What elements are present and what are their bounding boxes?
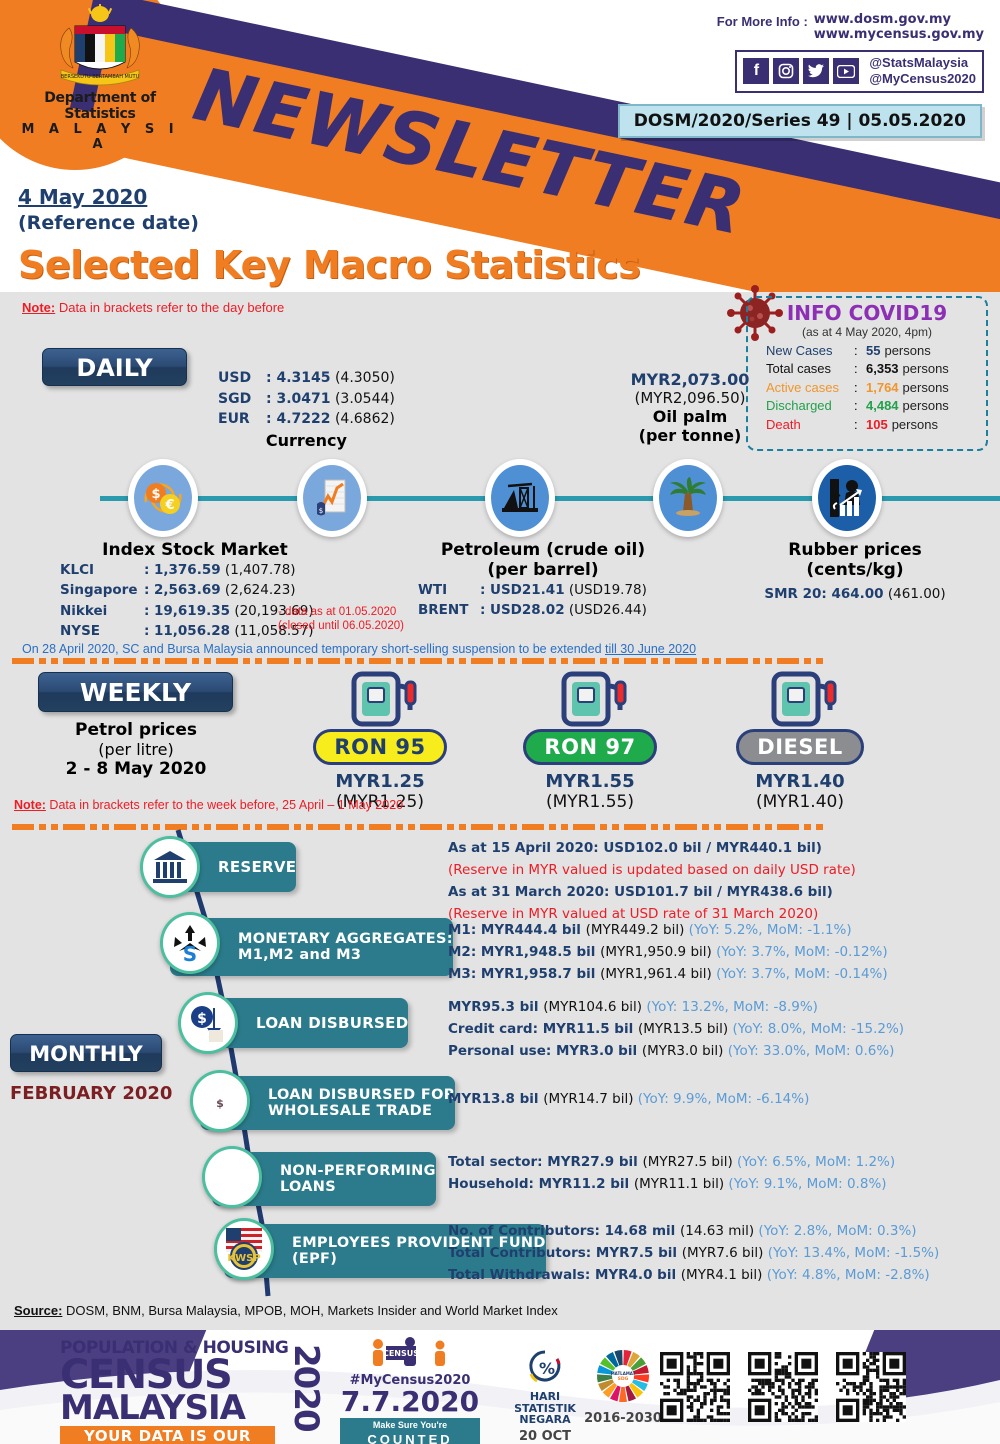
bursa-note-text: On 28 April 2020, SC and Bursa Malaysia … [22,642,605,656]
rubber-prev: (461.00) [888,586,946,602]
monthly-value-current: MYR95.3 bil [448,999,543,1015]
separator-dash [165,824,187,830]
monthly-value-previous: (14.63 mil) [680,1223,758,1239]
monthly-value-previous: (MYR3.0 bil) [642,1043,728,1059]
monthly-row-label: NON-PERFORMING LOANS [280,1163,436,1195]
covid-row-label: New Cases [766,342,854,360]
separator-dash [318,658,340,664]
currency-row: EUR: 4.7222 (4.6862) [218,409,395,430]
monthly-value-change: (YoY: 9.1%, MoM: 0.8%) [728,1176,886,1192]
separator-dash [51,658,58,664]
rubber-title-1: Rubber prices [755,540,955,560]
index-value: 2,563.69 [154,582,221,598]
separator-dash [216,658,238,664]
petroleum-block: Petroleum (crude oil) (per barrel) WTI:U… [418,540,668,621]
weekly-section-button[interactable]: WEEKLY [38,672,233,712]
monthly-row-label: RESERVE [218,859,296,876]
bursa-short-selling-note: On 28 April 2020, SC and Bursa Malaysia … [22,642,696,656]
dosm-logo: BERSEKUTU BERTAMBAH MUTU Department of S… [20,4,180,114]
monthly-value-change: (YoY: 13.2%, MoM: -8.9%) [646,999,818,1015]
separator-dash [447,658,454,664]
separator-dash [102,658,109,664]
qr-code-dosm[interactable] [660,1352,730,1422]
currency-row: SGD: 3.0471 (3.0544) [218,389,395,410]
separator-dash [267,824,289,830]
epf-logo-icon: KWSP [214,1218,274,1280]
separator-dash [255,824,262,830]
handle-mycensus: @MyCensus2020 [869,71,976,87]
census-family-icon: CENSUS [362,1336,458,1368]
fuel-price-prev: (MYR1.40) [710,792,890,812]
fuel-pump-icon [332,668,428,728]
covid-row-value: 6,353 [866,360,899,378]
separator-dash [114,824,136,830]
monthly-value-current: Total sector: MYR27.9 bil [448,1154,643,1170]
covid-row-unit: persons [884,342,930,360]
separator-dash [369,824,391,830]
monthly-value-previous: (MYR104.6 bil) [543,999,646,1015]
monthly-row-label: LOAN DISBURSED FOR WHOLESALE TRADE [268,1087,455,1119]
palm-tree-icon [666,477,710,519]
separator-dash [396,824,403,830]
covid-row-unit: persons [903,360,949,378]
separator-dash [612,824,619,830]
covid-row: Total cases:6,353persons [748,360,986,378]
separator-dash [153,824,160,830]
counted-badge: Make Sure You're COUNTED [340,1418,480,1444]
nikkei-data-note: - data as at 01.05.2020 (closed until 06… [278,605,404,634]
currency-code: USD [218,368,266,389]
monthly-value-line: M2: MYR1,948.5 bil (MYR1,950.9 bil) (YoY… [448,942,888,964]
monthly-value-previous: (MYR13.5 bil) [638,1021,733,1037]
fuel-price: MYR1.55 [500,771,680,792]
monthly-row-label: LOAN DISBURSED [256,1015,408,1032]
weekly-note: Note: Data in brackets refer to the week… [14,798,403,812]
separator-dash [663,658,670,664]
petroleum-colon: : [480,600,490,620]
percent-circle-icon: % [519,1348,571,1386]
monthly-value-change: (YoY: 9.9%, MoM: -6.14%) [638,1091,810,1107]
separator-dash [459,658,466,664]
fuel-grade-pill: DIESEL [736,729,863,765]
currency-code: SGD [218,389,266,410]
currency-rows: USD: 4.3145 (4.3050)SGD: 3.0471 (3.0544)… [218,368,395,430]
separator-dash [561,824,568,830]
oil-palm-block: MYR2,073.00 (MYR2,096.50) Oil palm (per … [600,370,780,446]
separator-dash [675,824,697,830]
oil-palm-label-2: (per tonne) [600,427,780,445]
monthly-value-line: No. of Contributors: 14.68 mil (14.63 mi… [448,1221,939,1243]
source-text: DOSM, BNM, Bursa Malaysia, MPOB, MOH, Ma… [62,1303,557,1318]
petroleum-colon: : [480,580,490,600]
index-prev: (2,624.23) [225,582,296,598]
index-value: 1,376.59 [154,562,221,578]
monthly-value-line: Total Withdrawals: MYR4.0 bil (MYR4.1 bi… [448,1265,939,1287]
separator-dash [204,824,211,830]
census-date: 7.7.2020 [340,1388,480,1416]
daily-section-button[interactable]: DAILY [42,348,187,386]
separator-dash [165,658,187,664]
petrol-pump-ron95: RON 95MYR1.25(MYR1.25) [290,668,470,812]
separator-dash [357,658,364,664]
petroleum-name: BRENT [418,600,480,620]
money-supply-icon: S [160,912,220,974]
separator-dash [12,824,34,830]
twitter-icon[interactable] [803,58,829,84]
separator-dash [51,824,58,830]
covid-row-unit: persons [903,397,949,415]
separator-dash [753,658,760,664]
sdg-segment [619,1387,627,1402]
petrol-pump-ron97: RON 97MYR1.55(MYR1.55) [500,668,680,812]
covid-row-value: 4,484 [866,397,899,415]
currency-value: : 4.7222 [266,411,331,427]
fuel-pump-icon [752,668,848,728]
separator-dash [243,824,250,830]
timeline-node-rubber [812,459,882,537]
stat-day-line1: HARI [500,1391,590,1403]
petroleum-title-1: Petroleum (crude oil) [418,540,668,560]
census-tagline: YOUR DATA IS OUR FUTURE [60,1426,275,1444]
rubber-tapping-icon [824,477,870,519]
index-value: 19,619.35 [154,603,230,619]
monthly-row-values: MYR95.3 bil (MYR104.6 bil) (YoY: 13.2%, … [448,997,904,1063]
newsletter-page: NEWSLETTER [0,0,1000,1444]
monthly-value-previous: (MYR27.5 bil) [643,1154,738,1170]
covid-row-colon: : [854,360,866,378]
currency-prev: (4.6862) [335,411,395,427]
separator-dash [216,824,238,830]
instagram-icon[interactable] [773,58,799,84]
separator-dash [804,658,811,664]
monthly-section-button[interactable]: MONTHLY [10,1034,162,1072]
source-line: Source: DOSM, BNM, Bursa Malaysia, MPOB,… [14,1303,558,1318]
index-colon: : [144,601,154,621]
covid-row-colon: : [854,397,866,415]
separator-dash [12,658,34,664]
monthly-value-previous: (MYR1,961.4 bil) [600,966,716,982]
nikkei-data-note-line1: - data as at 01.05.2020 [278,605,404,619]
separator-dash [39,824,46,830]
separator-dash [102,824,109,830]
fuel-price: MYR1.25 [290,771,470,792]
separator-dash [498,824,505,830]
monthly-value-current: M2: MYR1,948.5 bil [448,944,600,960]
monthly-value-line: M1: MYR444.4 bil (MYR449.2 bil) (YoY: 5.… [448,920,888,942]
reference-date-caption: (Reference date) [18,212,199,234]
separator-dash [345,824,352,830]
covid-title: INFO COVID19 [748,301,986,325]
separator-dash [294,824,301,830]
monthly-value-change: (YoY: 2.8%, MoM: 0.3%) [758,1223,916,1239]
separator-dash [420,824,442,830]
dosm-url[interactable]: www.dosm.gov.my [814,12,984,27]
currency-row: USD: 4.3145 (4.3050) [218,368,395,389]
separator-dash [624,658,646,664]
oil-palm-label-1: Oil palm [600,408,780,426]
petroleum-title-2: (per barrel) [418,560,668,580]
index-row: KLCI:1,376.59 (1,407.78) [60,560,330,580]
svg-text:%: % [539,1359,555,1378]
petrol-prices-label: Petrol prices (per litre) 2 - 8 May 2020 [36,720,236,779]
series-id-badge: DOSM/2020/Series 49 | 05.05.2020 [618,104,982,138]
petroleum-row: BRENT:USD28.02 (USD26.44) [418,600,668,620]
rubber-row: SMR 20: 464.00 (461.00) [755,586,955,602]
separator-dash [777,824,799,830]
monthly-reference-month: FEBRUARY 2020 [10,1083,172,1104]
separator-dash [141,658,148,664]
separator-dash [192,824,199,830]
separator-dash [408,658,415,664]
source-label: Source: [14,1303,62,1318]
monthly-value-change: (YoY: 33.0%, MoM: 0.6%) [728,1043,895,1059]
covid-row-value: 1,764 [866,379,899,397]
covid-rows: New Cases:55personsTotal cases:6,353pers… [748,342,986,434]
svg-text:€: € [164,498,174,513]
separator-dash [357,824,364,830]
separator-dash [90,824,97,830]
dosm-org-line1: Department of Statistics [20,90,180,122]
separator-dash [612,658,619,664]
separator-dash [204,658,211,664]
separator-dash [63,658,85,664]
monthly-value-line: (Reserve in MYR valued is updated based … [448,860,856,882]
separator-dash [549,824,556,830]
separator-dash [714,658,721,664]
monthly-value-current: Household: MYR11.2 bil [448,1176,634,1192]
monthly-value-line: Household: MYR11.2 bil (MYR11.1 bil) (Yo… [448,1174,895,1196]
daily-note-label: Note: [22,300,55,315]
separator-dash [726,658,748,664]
currency-label: Currency [218,431,395,450]
monthly-value-current: Personal use: MYR3.0 bil [448,1043,642,1059]
counted-big: COUNTED [340,1432,480,1444]
monthly-value-previous: (MYR1,950.9 bil) [600,944,716,960]
separator-dash [294,658,301,664]
separator-dash [675,658,697,664]
mycensus-url[interactable]: www.mycensus.gov.my [814,27,984,42]
stat-day-date: 20 OCT [500,1429,590,1444]
bursa-note-link[interactable]: till 30 June 2020 [605,642,696,656]
petroleum-rows: WTI:USD21.41 (USD19.78)BRENT:USD28.02 (U… [418,580,668,621]
separator-dash [306,824,313,830]
section-separator-1 [12,658,988,664]
monthly-value-previous: (MYR7.6 bil) [682,1245,768,1261]
index-name: Singapore [60,580,144,600]
separator-dash [522,658,544,664]
page-header: NEWSLETTER [0,0,1000,292]
qr-code-mycensus[interactable] [836,1352,906,1422]
separator-dash [714,824,721,830]
covid-row: New Cases:55persons [748,342,986,360]
monthly-value-change: (YoY: 3.7%, MoM: -0.12%) [716,944,888,960]
separator-dash [600,824,607,830]
svg-text:BERSEKUTU BERTAMBAH MUTU: BERSEKUTU BERTAMBAH MUTU [61,74,140,80]
fuel-price: MYR1.40 [710,771,890,792]
index-prev: (1,407.78) [225,562,296,578]
monthly-value-change: (YoY: 5.2%, MoM: -1.1%) [689,922,852,938]
monthly-value-line: Credit card: MYR11.5 bil (MYR13.5 bil) (… [448,1019,904,1041]
qr-code-facebook[interactable] [748,1352,818,1422]
separator-dash [753,824,760,830]
separator-dash [141,824,148,830]
index-colon: : [144,560,154,580]
fuel-price-prev: (MYR1.55) [500,792,680,812]
stat-day-line3: NEGARA [500,1414,590,1426]
monthly-value-change: (YoY: 4.8%, MoM: -2.8%) [767,1267,930,1283]
index-stock-market-title: Index Stock Market [60,540,330,560]
index-value: 11,056.28 [154,623,230,639]
monthly-value-change: (YoY: 3.7%, MoM: -0.14%) [716,966,888,982]
monthly-value-current: Total Withdrawals: MYR4.0 bil [448,1267,681,1283]
petroleum-prev: (USD26.44) [569,602,647,618]
covid-row-colon: : [854,416,866,434]
separator-dash [663,824,670,830]
petroleum-value: USD28.02 [490,602,565,618]
separator-dash [777,658,799,664]
separator-dash [63,824,85,830]
separator-dash [243,658,250,664]
currency-exchange-icon: $ € [140,478,186,518]
monthly-value-line: Total sector: MYR27.9 bil (MYR27.5 bil) … [448,1152,895,1174]
separator-dash [408,824,415,830]
monthly-value-line: MYR13.8 bil (MYR14.7 bil) (YoY: 9.9%, Mo… [448,1089,809,1111]
petroleum-value: USD21.41 [490,582,565,598]
petrol-pump-diesel: DIESELMYR1.40(MYR1.40) [710,668,890,812]
monthly-value-current: M3: MYR1,958.7 bil [448,966,600,982]
handle-stats-malaysia: @StatsMalaysia [869,55,976,71]
monthly-row-values: MYR13.8 bil (MYR14.7 bil) (YoY: 9.9%, Mo… [448,1089,809,1111]
rubber-block: Rubber prices (cents/kg) SMR 20: 464.00 … [755,540,955,602]
monthly-value-line: MYR95.3 bil (MYR104.6 bil) (YoY: 13.2%, … [448,997,904,1019]
separator-dash [510,658,517,664]
monthly-value-line: Total Contributors: MYR7.5 bil (MYR7.6 b… [448,1243,939,1265]
separator-dash [765,658,772,664]
svg-text:$: $ [319,507,323,515]
timeline-node-currency: $ € [128,459,198,537]
monthly-value-previous: (MYR14.7 bil) [543,1091,638,1107]
monthly-value-previous: (MYR11.1 bil) [634,1176,729,1192]
monthly-value-current: Total Contributors: MYR7.5 bil [448,1245,682,1261]
timeline-node-oil-palm [653,459,723,537]
oil-palm-prev: (MYR2,096.50) [600,389,780,407]
separator-dash [804,824,811,830]
monthly-value-previous: (MYR449.2 bil) [586,922,689,938]
separator-dash [318,824,340,830]
monthly-value-line: M3: MYR1,958.7 bil (MYR1,961.4 bil) (YoY… [448,964,888,986]
monthly-value-current: M1: MYR444.4 bil [448,922,586,938]
currency-value: : 4.3145 [266,370,331,386]
for-more-info-label: For More Info : [717,12,808,29]
separator-dash [702,658,709,664]
separator-dash [447,824,454,830]
separator-dash [153,658,160,664]
sdg-logo: MATLAMAT SDG 2016-2030 [578,1348,668,1426]
monthly-value-line: As at 31 March 2020: USD101.7 bil / MYR4… [448,882,856,904]
dollar-arrow-icon: $ [178,992,238,1054]
monthly-value-current: MYR13.8 bil [448,1091,543,1107]
svg-text:$: $ [216,1097,224,1110]
separator-dash [255,658,262,664]
covid-row: Active cases:1,764persons [748,379,986,397]
separator-dash [345,658,352,664]
page-footer: POPULATION & HOUSING CENSUS MALAYSIA 202… [0,1330,1000,1444]
separator-dash [549,658,556,664]
social-media-box: f @StatsMalaysia @MyCensus2020 [735,50,984,93]
covid-row-value: 55 [866,342,880,360]
index-name: NYSE [60,621,144,641]
separator-dash [90,658,97,664]
reference-date: 4 May 2020 [18,185,147,209]
separator-dash [702,824,709,830]
monthly-row-values: As at 15 April 2020: USD102.0 bil / MYR4… [448,838,856,925]
facebook-icon[interactable]: f [743,58,769,84]
index-row: Singapore:2,563.69 (2,624.23) [60,580,330,600]
separator-dash [192,658,199,664]
oil-palm-value: MYR2,073.00 [600,370,780,389]
covid-row: Discharged:4,484persons [748,397,986,415]
page-title: Selected Key Macro Statistics [18,243,640,287]
separator-dash [267,658,289,664]
daily-note-text: Data in brackets refer to the day before [55,300,284,315]
index-colon: : [144,580,154,600]
separator-dash [459,824,466,830]
monthly-value-change: (YoY: 13.4%, MoM: -1.5%) [768,1245,940,1261]
contact-info-block: For More Info : www.dosm.gov.my www.myce… [664,12,984,93]
counted-small: Make Sure You're [373,1420,447,1430]
rubber-title-2: (cents/kg) [755,560,955,580]
separator-dash [600,658,607,664]
section-separator-2 [12,824,988,830]
monthly-row-values: M1: MYR444.4 bil (MYR449.2 bil) (YoY: 5.… [448,920,888,986]
covid-info-box: INFO COVID19 (as at 4 May 2020, 4pm) New… [746,296,988,451]
svg-text:KWSP: KWSP [227,1253,260,1264]
census-year: 2020 [286,1344,326,1431]
timeline-node-petroleum [485,459,555,537]
money-bag-hand-icon: $ [190,1070,250,1132]
separator-dash [573,658,595,664]
petrol-unit: (per litre) [36,740,236,759]
weekly-note-text: Data in brackets refer to the week befor… [46,798,403,812]
separator-dash [369,658,391,664]
monthly-row-values: No. of Contributors: 14.68 mil (14.63 mi… [448,1221,939,1287]
covid-row-unit: persons [903,379,949,397]
weekly-note-label: Note: [14,798,46,812]
nikkei-data-note-line2: (closed until 06.05.2020) [278,619,404,633]
separator-dash [816,824,823,830]
fuel-grade-pill: RON 97 [523,729,656,765]
timeline-node-stock-market: $ [297,459,367,537]
youtube-icon[interactable] [833,58,859,84]
rubber-name: SMR 20: 464.00 [764,586,883,602]
monthly-value-change: (YoY: 8.0%, MoM: -15.2%) [732,1021,904,1037]
oil-pump-icon [498,478,542,518]
covid-row: Death:105persons [748,416,986,434]
svg-text:$: $ [197,1011,207,1027]
petroleum-row: WTI:USD21.41 (USD19.78) [418,580,668,600]
hari-statistik-negara-logo: % HARI STATISTIK NEGARA 20 OCT [500,1348,590,1444]
monthly-value-change: (YoY: 6.5%, MoM: 1.2%) [737,1154,895,1170]
covid-subtitle: (as at 4 May 2020, 4pm) [748,325,986,339]
bank-building-icon [140,836,200,898]
separator-dash [420,658,442,664]
svg-text:CENSUS: CENSUS [383,1349,419,1358]
census-line3: MALAYSIA [60,1393,320,1424]
separator-dash [471,658,493,664]
currency-block: USD: 4.3145 (4.3050)SGD: 3.0471 (3.0544)… [218,368,395,450]
separator-dash [396,658,403,664]
sdg-period: 2016-2030 [578,1411,668,1426]
